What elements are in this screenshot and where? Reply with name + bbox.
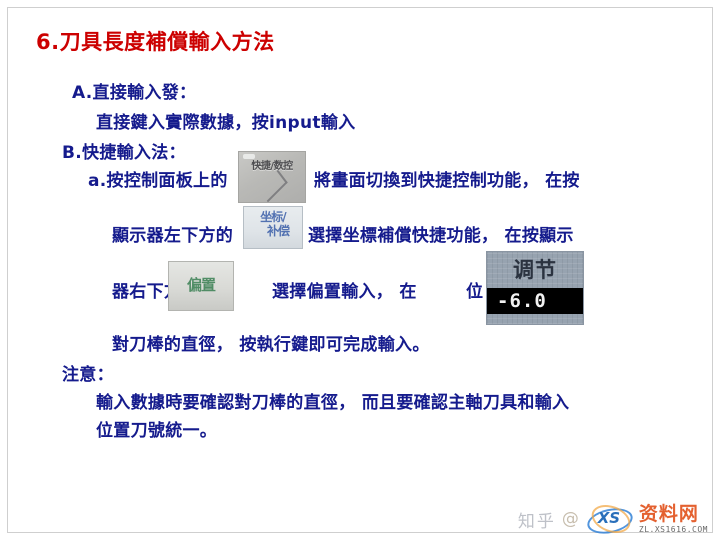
offset-softkey-label: 偏置 [169, 274, 233, 295]
watermark-platform: 知乎 [518, 507, 556, 532]
section-b-step-b-suffix: 選擇坐標補償快捷功能， 在按顯示 [308, 221, 574, 246]
watermark-at-symbol: @ [562, 509, 579, 529]
note-line-2: 位置刀號統一。 [96, 416, 217, 441]
section-a-heading: A.直接輸入發： [72, 78, 196, 103]
photo-offset-softkey[interactable]: 偏置 [168, 261, 234, 311]
watermark-badge-text: XS [585, 509, 633, 527]
section-b-step-c-tail: 位 [466, 277, 483, 302]
adjust-value-text: -6.0 [497, 290, 547, 312]
adjust-value-bar: -6.0 [486, 288, 584, 314]
quick-mode-key-label: 快捷/数控 [239, 157, 305, 172]
coordinate-softkey-label-line2: 补偿 [254, 224, 302, 238]
presentation-slide: 6.刀具長度補償輸入方法 A.直接輸入發： 直接鍵入實際數據，按input輸入 … [0, 0, 720, 540]
section-b-step-d: 對刀棒的直徑， 按執行鍵即可完成輸入。 [112, 330, 430, 355]
section-a-detail: 直接鍵入實際數據，按input輸入 [96, 108, 355, 133]
section-b-step-c-middle: 選擇偏置輸入， 在 [272, 277, 417, 302]
note-line-1: 輸入數據時要確認對刀棒的直徑， 而且要確認主軸刀具和輸入 [96, 388, 569, 413]
photo-quick-mode-key[interactable]: 快捷/数控 [238, 151, 306, 203]
watermark-site: 资料网 ZL.XS1616.COM [639, 505, 708, 534]
adjust-panel-label: 调节 [487, 254, 583, 284]
photo-adjust-display-panel: 调节 -6.0 [486, 251, 584, 325]
watermark-site-url: ZL.XS1616.COM [639, 526, 708, 534]
photo-coordinate-offset-softkey[interactable]: 坐标/ 补偿 [243, 206, 303, 249]
section-b-heading: B.快捷輸入法： [62, 138, 186, 163]
note-heading: 注意： [62, 360, 114, 385]
watermark: 知乎 @ XS 资料网 ZL.XS1616.COM [518, 504, 708, 534]
slide-title: 6.刀具長度補償輸入方法 [36, 26, 275, 56]
watermark-xs-logo-icon: XS [585, 504, 633, 534]
watermark-site-name: 资料网 [639, 505, 699, 524]
section-b-step-b-prefix: 顯示器左下方的 [112, 221, 233, 246]
section-b-step-a-prefix: a.按控制面板上的 [88, 166, 228, 191]
coordinate-offset-softkey-label: 坐标/ 补偿 [244, 210, 302, 238]
coordinate-softkey-label-line1: 坐标/ [260, 210, 285, 224]
section-b-step-a-suffix: 將畫面切換到快捷控制功能， 在按 [314, 166, 580, 191]
chevron-up-icon [258, 170, 288, 203]
